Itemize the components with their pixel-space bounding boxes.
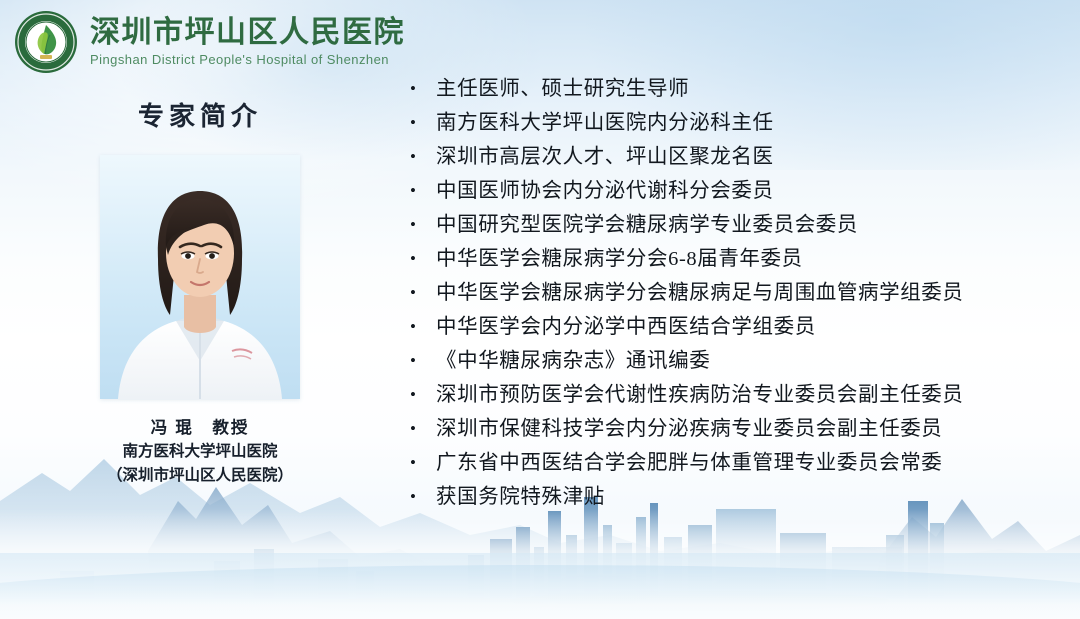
list-item-label: 主任医师、硕士研究生导师 — [436, 72, 689, 106]
near-mountain-left — [148, 487, 430, 579]
bullet-icon: • — [410, 208, 436, 242]
list-item-label: 中华医学会糖尿病学分会糖尿病足与周围血管病学组委员 — [436, 276, 964, 310]
list-item: •中华医学会糖尿病学分会6-8届青年委员 — [410, 242, 1070, 276]
list-item: •主任医师、硕士研究生导师 — [410, 72, 1070, 106]
list-item: •中国医师协会内分泌代谢科分会委员 — [410, 174, 1070, 208]
hospital-name-cn: 深圳市坪山区人民医院 — [90, 17, 405, 49]
list-item-label: 深圳市保健科技学会内分泌疾病专业委员会副主任委员 — [436, 412, 942, 446]
doctor-affiliation-2: （深圳市坪山区人民医院） — [0, 464, 400, 488]
water-overlay — [0, 553, 1080, 619]
bullet-icon: • — [410, 174, 436, 208]
doctor-portrait-photo — [100, 155, 300, 399]
hospital-name-en: Pingshan District People's Hospital of S… — [90, 52, 405, 67]
profile-column: 专家简介 — [0, 96, 400, 487]
bullet-icon: • — [410, 378, 436, 412]
list-item: •获国务院特殊津贴 — [410, 480, 1070, 514]
page-title: 专家简介 — [0, 96, 400, 133]
list-item-label: 中国医师协会内分泌代谢科分会委员 — [436, 174, 774, 208]
list-item: •深圳市保健科技学会内分泌疾病专业委员会副主任委员 — [410, 412, 1070, 446]
list-item: •深圳市预防医学会代谢性疾病防治专业委员会副主任委员 — [410, 378, 1070, 412]
list-item-label: 中华医学会糖尿病学分会6-8届青年委员 — [436, 242, 803, 276]
list-item-label: 中华医学会内分泌学中西医结合学组委员 — [436, 310, 816, 344]
list-item-label: 《中华糖尿病杂志》通讯编委 — [436, 344, 710, 378]
near-mountain-right — [870, 499, 1080, 619]
bullet-icon: • — [410, 446, 436, 480]
bullet-icon: • — [410, 242, 436, 276]
bullet-icon: • — [410, 344, 436, 378]
doctor-name: 冯 琨 教授 — [0, 415, 400, 440]
list-item-label: 深圳市高层次人才、坪山区聚龙名医 — [436, 140, 774, 174]
doctor-caption: 冯 琨 教授 南方医科大学坪山医院 （深圳市坪山区人民医院） — [0, 415, 400, 487]
list-item: •中华医学会内分泌学中西医结合学组委员 — [410, 310, 1070, 344]
list-item-label: 深圳市预防医学会代谢性疾病防治专业委员会副主任委员 — [436, 378, 964, 412]
list-item-label: 广东省中西医结合学会肥胖与体重管理专业委员会常委 — [436, 446, 942, 480]
list-item: •南方医科大学坪山医院内分泌科主任 — [410, 106, 1070, 140]
bullet-icon: • — [410, 412, 436, 446]
slide-canvas: 深圳市坪山区人民医院 Pingshan District People's Ho… — [0, 0, 1080, 619]
hospital-brand: 深圳市坪山区人民医院 Pingshan District People's Ho… — [14, 10, 405, 74]
bullet-icon: • — [410, 276, 436, 310]
bullet-icon: • — [410, 140, 436, 174]
list-item-label: 获国务院特殊津贴 — [436, 480, 605, 514]
doctor-affiliation-1: 南方医科大学坪山医院 — [0, 440, 400, 464]
bullet-icon: • — [410, 72, 436, 106]
list-item-label: 南方医科大学坪山医院内分泌科主任 — [436, 106, 774, 140]
bullet-icon: • — [410, 106, 436, 140]
list-item: •中国研究型医院学会糖尿病学专业委员会委员 — [410, 208, 1070, 242]
bullet-icon: • — [410, 480, 436, 514]
bullet-icon: • — [410, 310, 436, 344]
list-item: •广东省中西医结合学会肥胖与体重管理专业委员会常委 — [410, 446, 1070, 480]
list-item: •《中华糖尿病杂志》通讯编委 — [410, 344, 1070, 378]
list-item: •深圳市高层次人才、坪山区聚龙名医 — [410, 140, 1070, 174]
hospital-leaf-emblem-icon — [14, 10, 78, 74]
mist-overlay — [0, 509, 1080, 619]
list-item: •中华医学会糖尿病学分会糖尿病足与周围血管病学组委员 — [410, 276, 1070, 310]
credentials-list: •主任医师、硕士研究生导师 •南方医科大学坪山医院内分泌科主任 •深圳市高层次人… — [410, 72, 1070, 514]
list-item-label: 中国研究型医院学会糖尿病学专业委员会委员 — [436, 208, 858, 242]
